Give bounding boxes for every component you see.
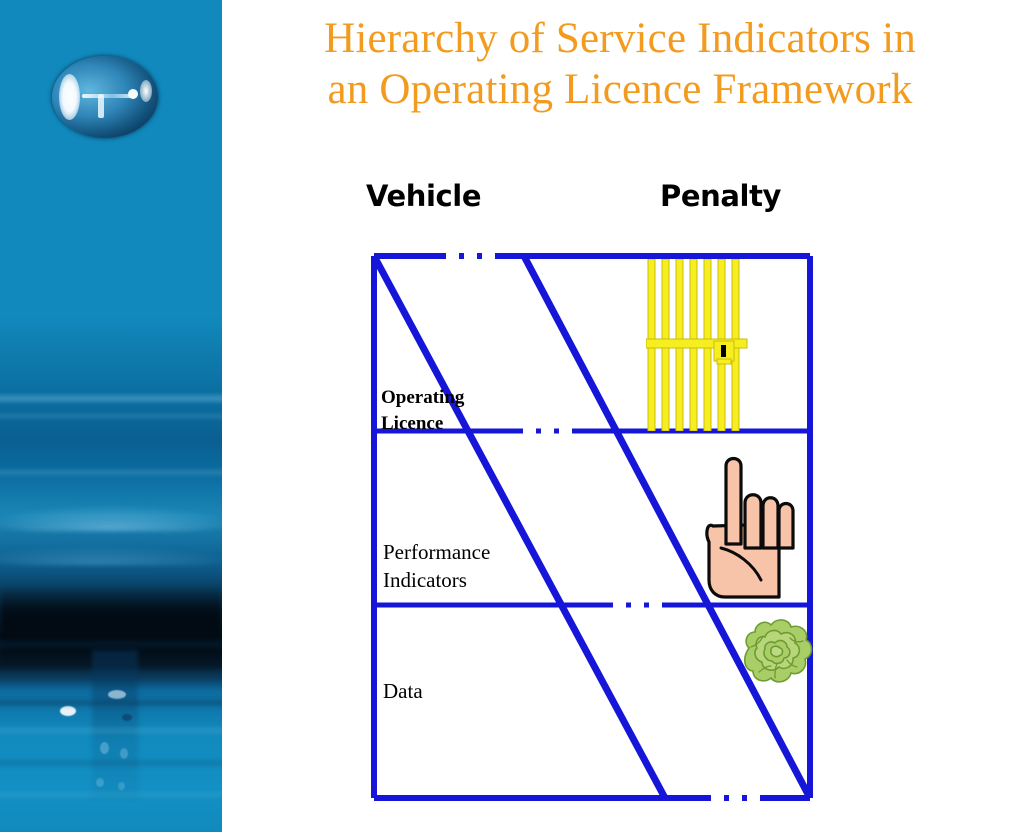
column-header-vehicle: Vehicle <box>366 179 481 213</box>
diagram-diagonal-left <box>374 256 665 798</box>
water-droplet-shape <box>52 56 158 138</box>
water-splash-drop <box>60 706 76 716</box>
cell-label-operating-licence: Operating Licence <box>381 385 464 437</box>
water-ripple <box>0 792 222 797</box>
page-title: Hierarchy of Service Indicators in an Op… <box>240 14 1000 115</box>
water-splash-drop <box>108 690 126 699</box>
water-splash-drop <box>96 778 104 787</box>
water-ripple <box>0 470 222 475</box>
water-ripple <box>0 700 222 706</box>
water-ripple <box>0 414 222 418</box>
cell-label-data: Data <box>383 678 423 706</box>
droplet-highlight <box>59 74 80 120</box>
water-ripple <box>0 395 222 402</box>
pointing-hand-icon <box>703 448 801 602</box>
lock-keyhole <box>721 345 726 357</box>
water-ripple <box>0 505 222 531</box>
cabbage-icon <box>737 614 817 690</box>
slide-canvas: Hierarchy of Service Indicators in an Op… <box>0 0 1024 832</box>
water-ripple <box>0 640 222 648</box>
cell-label-performance-indicators: Performance Indicators <box>383 539 490 594</box>
page-title-line-1: Hierarchy of Service Indicators in <box>240 14 1000 65</box>
droplet-specular-dot <box>128 89 138 99</box>
water-splash-drop <box>118 782 125 790</box>
water-splash-drop <box>122 714 132 721</box>
column-header-penalty: Penalty <box>660 179 781 213</box>
page-title-line-2: an Operating Licence Framework <box>240 65 1000 116</box>
water-ripple <box>0 728 222 733</box>
water-splash-drop <box>120 748 128 759</box>
droplet-reflection-bar <box>98 94 104 118</box>
droplet-highlight <box>140 80 152 102</box>
water-splash-drop <box>100 742 109 754</box>
water-ripple <box>0 760 222 766</box>
water-ripple <box>0 545 222 565</box>
water-droplet-photo <box>0 0 222 832</box>
jail-bars-icon <box>646 259 750 431</box>
